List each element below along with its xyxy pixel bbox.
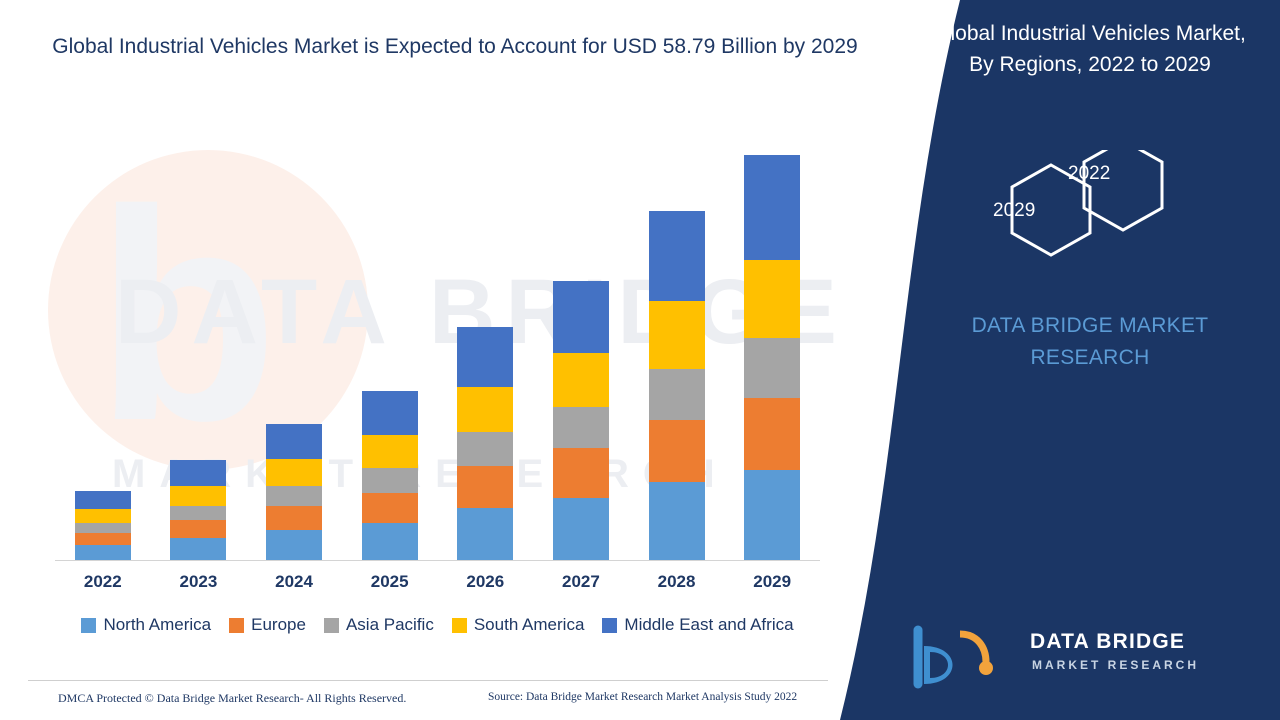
legend-label: South America [474,615,585,635]
bar-segment [649,482,705,560]
bar-segment [170,538,226,560]
hexagon-label-2022: 2022 [1068,163,1110,185]
legend-swatch [81,618,96,633]
bar-segment [75,509,131,523]
bar-segment [553,353,609,407]
bar-segment [362,523,418,560]
bar-segment [362,435,418,468]
x-axis-tick-label: 2029 [724,572,820,592]
bar-segment [170,520,226,538]
bar-segment [553,498,609,560]
bar-segment [744,470,800,560]
x-axis-tick-label: 2026 [438,572,534,592]
bar-segment [362,391,418,435]
bar-segment [649,301,705,369]
bar-segment [553,407,609,448]
bar-segment [362,468,418,493]
bar-segment [457,327,513,387]
chart-title: Global Industrial Vehicles Market is Exp… [40,28,870,66]
right-branding-panel: Global Industrial Vehicles Market, By Re… [840,0,1280,720]
legend-swatch [452,618,467,633]
hexagon-group: 2029 2022 [945,150,1245,280]
footer-source: Source: Data Bridge Market Research Mark… [488,691,797,703]
x-axis-tick-label: 2028 [629,572,725,592]
legend-item[interactable]: Europe [229,615,306,635]
bar-column [629,211,725,560]
bridge-logo-icon [900,622,1020,692]
legend-swatch [229,618,244,633]
legend-item[interactable]: North America [81,615,211,635]
footer-divider [28,680,828,681]
x-axis-tick-label: 2022 [55,572,151,592]
bar-segment [649,420,705,482]
legend-item[interactable]: Middle East and Africa [602,615,793,635]
bar-segment [75,491,131,509]
bar-segment [457,432,513,466]
bar-segment [266,459,322,486]
bar-column [151,460,247,560]
stacked-bar-chart [55,150,820,560]
logo-name: DATA BRIDGE [1030,630,1185,654]
bar-segment [457,466,513,508]
legend-label: Asia Pacific [346,615,434,635]
legend-item[interactable]: Asia Pacific [324,615,434,635]
bar-segment [744,338,800,398]
bar-segment [266,486,322,506]
bar-segment [649,211,705,301]
legend-swatch [602,618,617,633]
logo-subtitle: MARKET RESEARCH [1032,658,1199,672]
panel-title: Global Industrial Vehicles Market, By Re… [930,18,1250,80]
x-axis-tick-label: 2024 [246,572,342,592]
footer-copyright: DMCA Protected © Data Bridge Market Rese… [58,691,406,706]
bar-column [724,155,820,560]
legend-swatch [324,618,339,633]
bar-segment [457,387,513,432]
bar-column [533,281,629,560]
bar-segment [266,424,322,459]
bar-segment [75,545,131,560]
bar-column [342,391,438,560]
bar-segment [744,260,800,338]
bar-column [246,424,342,560]
x-axis-tick-label: 2025 [342,572,438,592]
bar-segment [553,448,609,498]
bar-segment [170,486,226,506]
bar-column [55,491,151,560]
bar-segment [266,530,322,560]
bar-segment [744,398,800,470]
bar-segment [266,506,322,530]
x-axis-labels: 20222023202420252026202720282029 [55,572,820,592]
x-axis-tick-label: 2023 [151,572,247,592]
legend-label: North America [103,615,211,635]
footer: DMCA Protected © Data Bridge Market Rese… [0,680,855,720]
hexagon-label-2029: 2029 [993,200,1035,222]
bar-segment [170,506,226,520]
bar-segment [649,369,705,420]
legend-label: Europe [251,615,306,635]
bar-segment [457,508,513,560]
chart-legend: North AmericaEuropeAsia PacificSouth Ame… [55,615,820,635]
bar-segment [362,493,418,523]
x-axis-tick-label: 2027 [533,572,629,592]
company-logo: DATA BRIDGE MARKET RESEARCH [900,622,1240,692]
bar-segment [170,460,226,486]
bar-segment [744,155,800,260]
legend-item[interactable]: South America [452,615,585,635]
x-axis-line [55,560,820,561]
bar-segment [75,533,131,545]
panel-brand-text: DATA BRIDGE MARKET RESEARCH [935,310,1245,374]
screenshot-root: b DATA BRIDGE MARKET RESEARCH Global Ind… [0,0,1280,720]
legend-label: Middle East and Africa [624,615,793,635]
bar-column [438,327,534,560]
bar-segment [75,523,131,533]
bar-segment [553,281,609,353]
